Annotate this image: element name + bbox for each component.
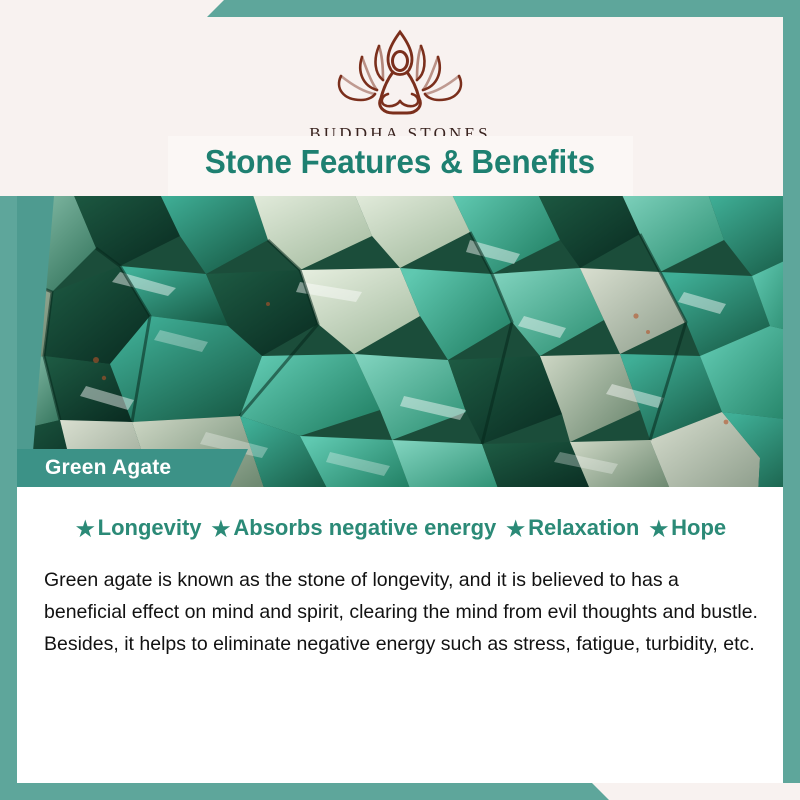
page-title: Stone Features & Benefits [20, 143, 780, 181]
stone-name-banner: Green Agate [0, 449, 248, 487]
benefit-item-3: Hope [671, 515, 726, 540]
lotus-meditation-icon [305, 24, 495, 120]
green-agate-stones-illustration [0, 196, 800, 487]
benefit-item-1: Absorbs negative energy [233, 515, 496, 540]
left-border-accent [0, 196, 17, 800]
star-icon: ★ [649, 517, 668, 542]
brand-logo: BUDDHA STONES [0, 24, 800, 144]
star-icon: ★ [212, 517, 231, 542]
benefit-item-0: Longevity [98, 515, 202, 540]
benefits-list: ★Longevity★Absorbs negative energy★Relax… [17, 515, 783, 542]
stone-info-poster: BUDDHA STONES Stone Features & Benefits [0, 0, 800, 800]
star-icon: ★ [506, 517, 525, 542]
bottom-border-accent [0, 783, 800, 800]
star-icon: ★ [76, 517, 95, 542]
stone-name-label: Green Agate [45, 456, 171, 480]
stone-description: Green agate is known as the stone of lon… [44, 564, 760, 660]
content-panel: ★Longevity★Absorbs negative energy★Relax… [17, 487, 783, 783]
stone-photo [0, 196, 800, 487]
right-border-accent [783, 0, 800, 783]
benefit-item-2: Relaxation [528, 515, 639, 540]
